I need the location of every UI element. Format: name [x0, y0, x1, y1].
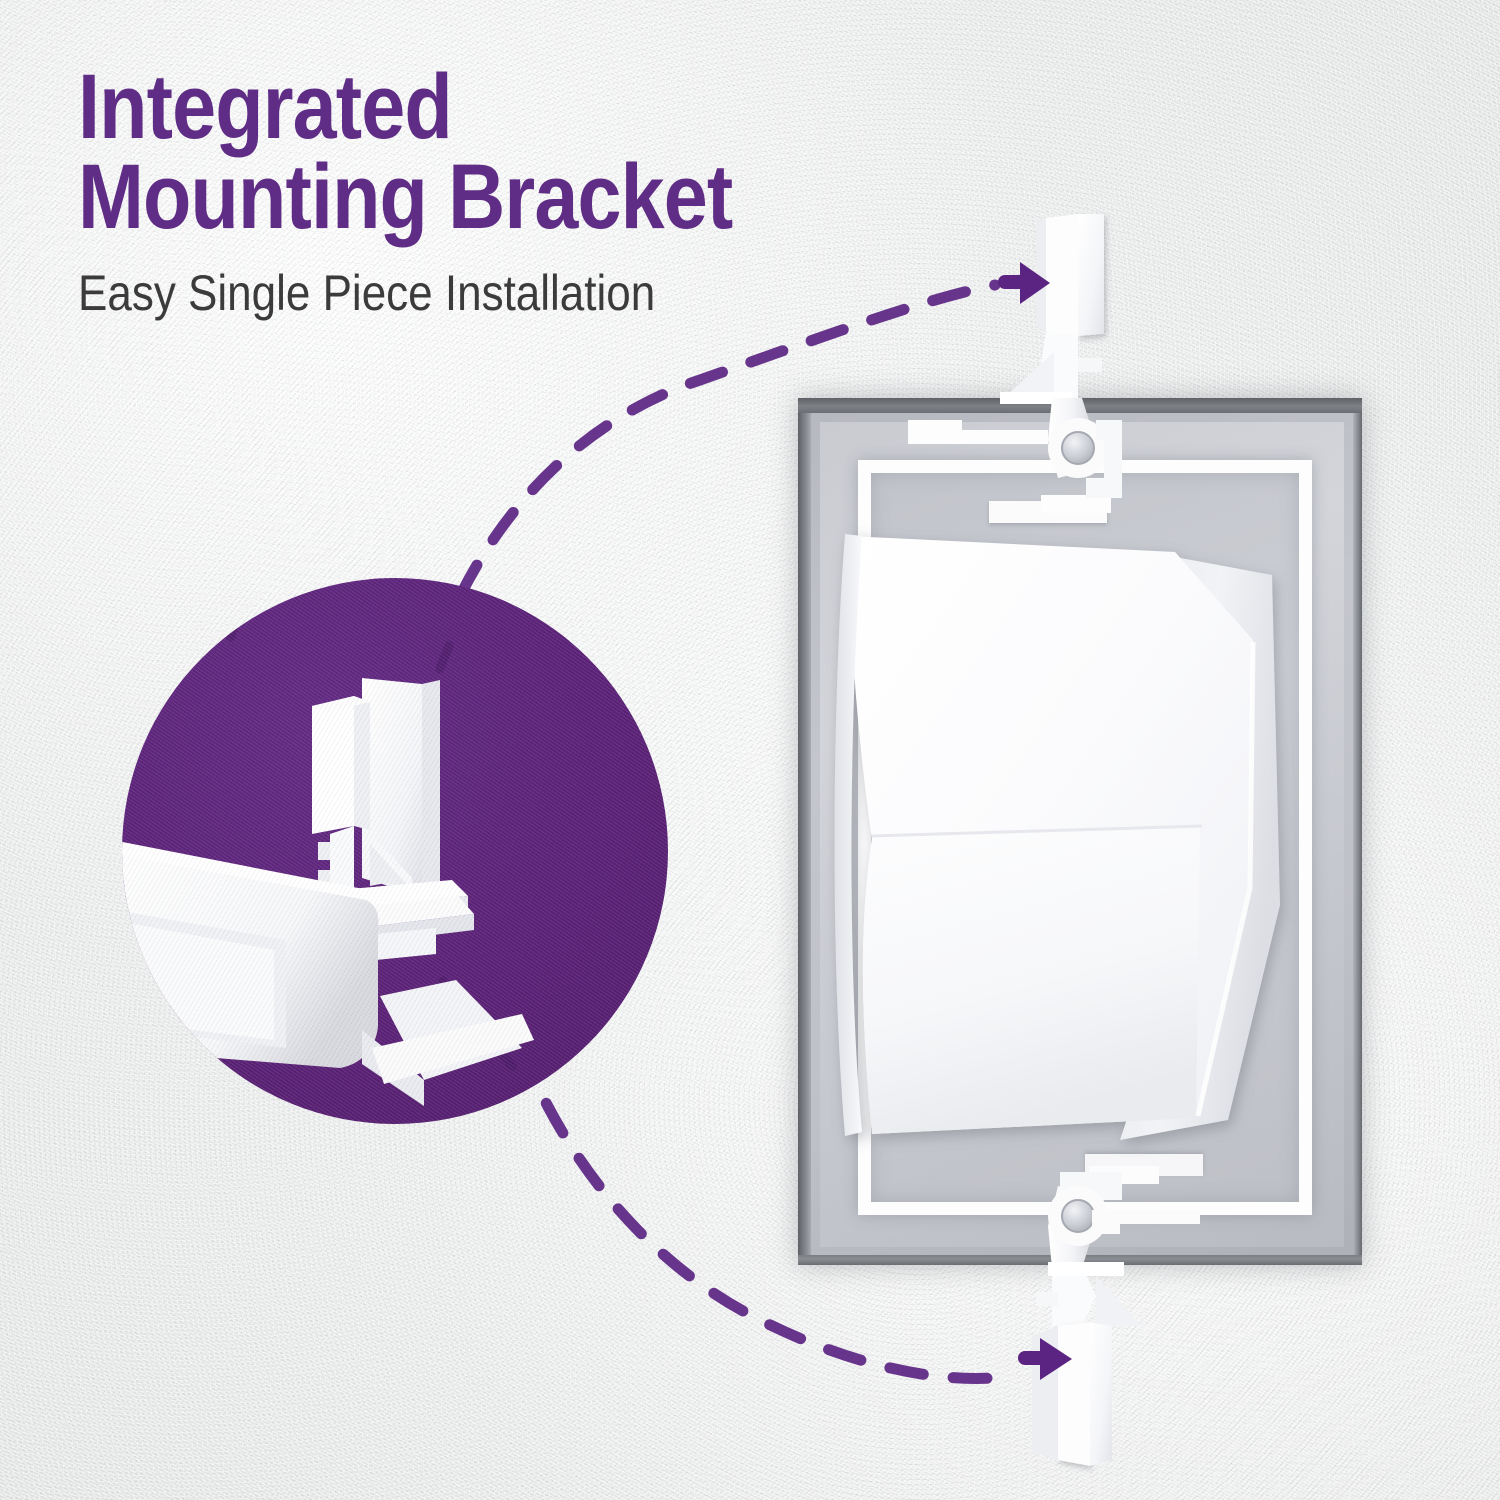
bracket-top-blade	[1078, 214, 1104, 336]
bracket-top-step-plate	[908, 420, 1048, 444]
mounting-bracket-bottom	[1032, 1172, 1200, 1466]
bracket-bottom-blade	[1090, 1322, 1112, 1466]
page-title: Integrated Mounting Bracket	[78, 62, 886, 242]
weatherproof-in-use-cover	[834, 534, 1280, 1140]
bracket-bottom-foot	[1048, 1262, 1124, 1276]
bracket-bottom-gusset	[1096, 1276, 1142, 1326]
bracket-top-screw	[1062, 432, 1094, 464]
page-subtitle: Easy Single Piece Installation	[78, 268, 905, 318]
bracket-bottom-notch	[1036, 1292, 1058, 1306]
magnifier-grain	[122, 578, 668, 1124]
bracket-bottom-blade-face	[1058, 1322, 1090, 1466]
bracket-bottom-screw	[1062, 1200, 1094, 1232]
bracket-top-notch	[1078, 358, 1102, 372]
bracket-bottom-step-plate	[1092, 1210, 1200, 1234]
bracket-detail-magnifier	[122, 578, 668, 1124]
infographic-canvas: Integrated Mounting Bracket Easy Single …	[0, 0, 1500, 1500]
headline-block: Integrated Mounting Bracket Easy Single …	[78, 62, 1018, 318]
bracket-top-blade-face	[1046, 214, 1078, 336]
cover-lower-face	[863, 828, 1200, 1134]
